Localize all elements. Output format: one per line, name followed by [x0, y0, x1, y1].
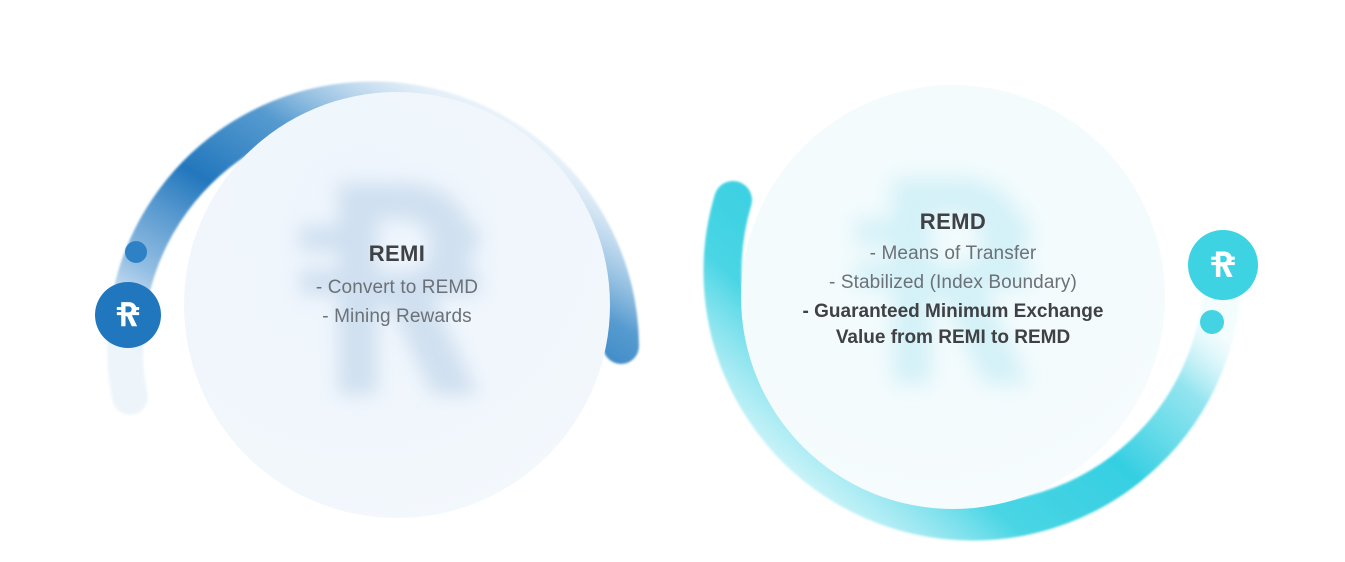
remd-bullet-2: - Stabilized (Index Boundary) — [792, 273, 1114, 292]
remd-coin-badge[interactable] — [1188, 230, 1258, 300]
remi-coin-badge[interactable] — [95, 282, 161, 348]
remd-card-text: REMD - Means of Transfer - Stabilized (I… — [792, 211, 1114, 347]
reserve-r-coin-icon — [1203, 245, 1243, 285]
remd-orbit-dot — [1200, 310, 1224, 334]
remd-bullet-1: - Means of Transfer — [792, 244, 1114, 263]
circles-graphics-layer — [0, 0, 1345, 562]
diagram-canvas: REMI - Convert to REMD - Mining Rewards … — [0, 0, 1345, 562]
remi-card-text: REMI - Convert to REMD - Mining Rewards — [237, 243, 557, 336]
remd-bullet-3-continued: Value from REMI to REMD — [792, 328, 1114, 347]
remd-title: REMD — [792, 211, 1114, 233]
remi-title: REMI — [237, 243, 557, 265]
reserve-r-coin-icon — [109, 296, 147, 334]
remi-bullet-2: - Mining Rewards — [237, 307, 557, 326]
remi-bullet-1: - Convert to REMD — [237, 278, 557, 297]
remi-orbit-dot — [125, 241, 147, 263]
remd-bullet-3: - Guaranteed Minimum Exchange — [792, 302, 1114, 321]
